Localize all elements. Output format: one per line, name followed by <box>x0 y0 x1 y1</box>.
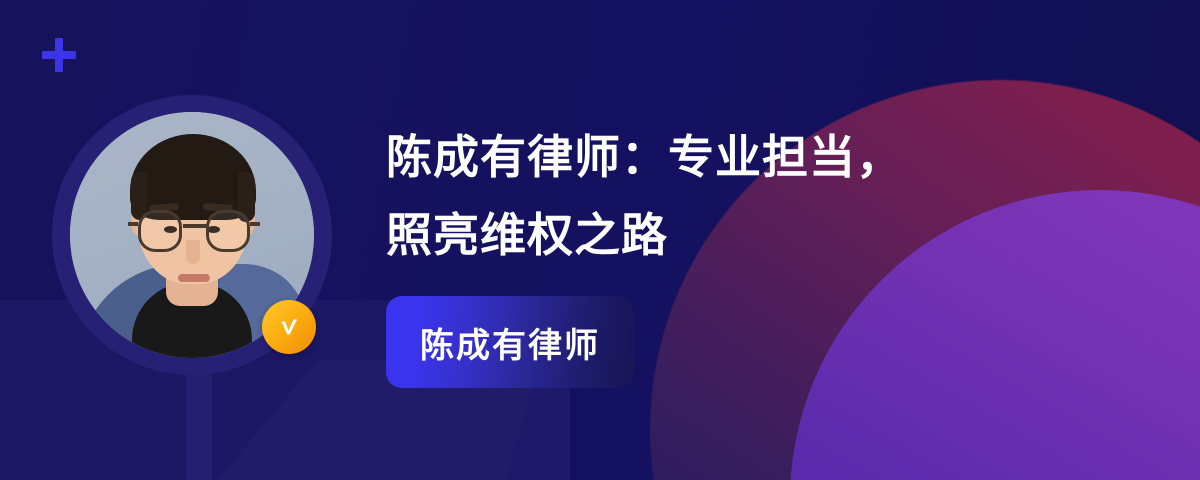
promo-banner: 陈成有律师：专业担当， 照亮维权之路 陈成有律师 <box>0 0 1200 480</box>
verified-badge-icon <box>262 300 316 354</box>
lawyer-profile-button[interactable]: 陈成有律师 <box>386 296 634 388</box>
avatar <box>52 95 332 375</box>
banner-content: 陈成有律师：专业担当， 照亮维权之路 陈成有律师 <box>386 118 1086 388</box>
plus-icon <box>42 38 76 72</box>
page-title: 陈成有律师：专业担当， 照亮维权之路 <box>386 118 1086 274</box>
